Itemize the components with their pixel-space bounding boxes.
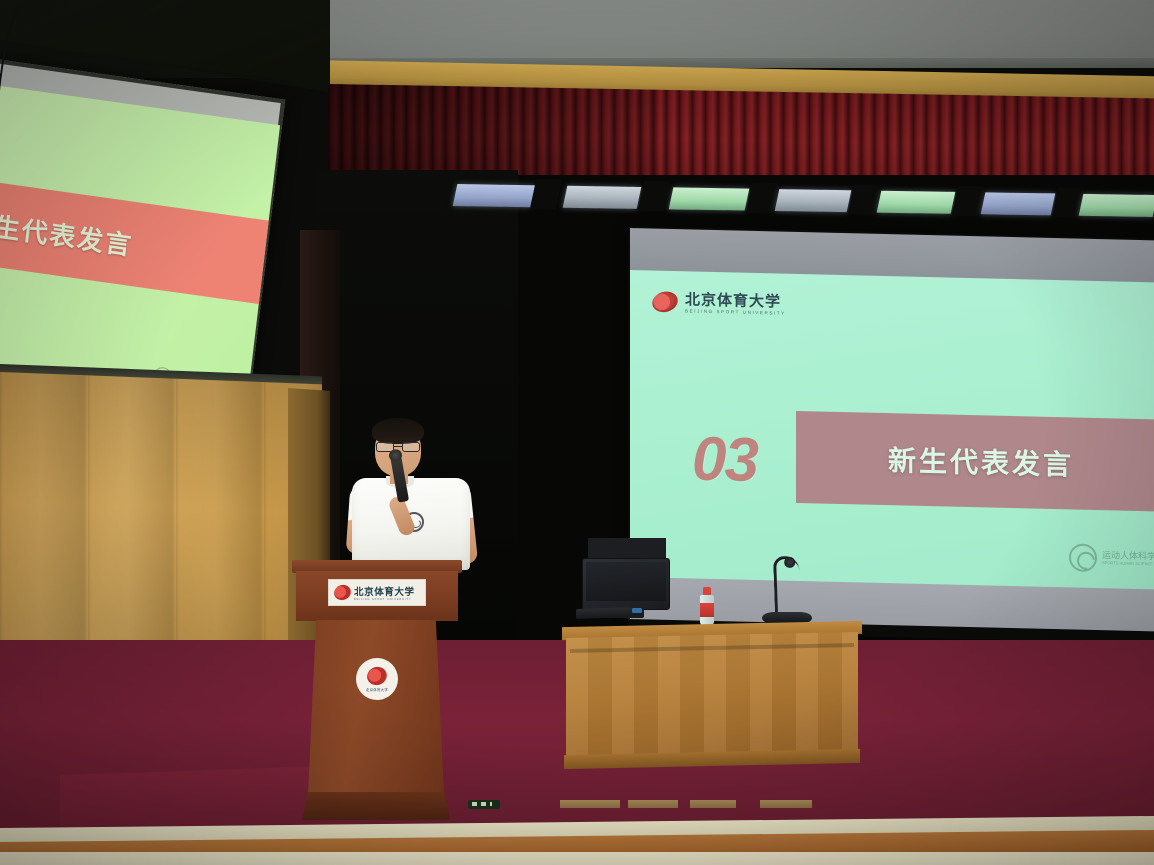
stage-light-icon [877,191,956,214]
microphone-head-icon [784,557,795,568]
floor-cable-cover [560,800,620,808]
main-screen-surface: 北京体育大学 BEIJING SPORT UNIVERSITY 03 新生代表发… [630,270,1154,592]
auditorium-scene: 新生代表发言 运动人体科学学院 SPORTS HUMAN SCIENCE 北京体… [0,0,1154,865]
podium-base [302,792,450,820]
speaker-podium: 北京体育大学 BEIJING SPORT UNIVERSITY 北京体育大学 [292,560,462,830]
college-seal-icon [1069,543,1097,572]
stage-edge-lower-trim [0,852,1154,865]
presenter-desk [562,624,862,774]
water-bottle [700,587,714,625]
student-speaker [342,418,482,583]
bottle-label [700,603,714,617]
floor-cable-cover [760,800,812,808]
university-swirl-icon [365,664,390,688]
university-swirl-icon [332,583,353,603]
power-strip [468,800,500,809]
floor-cable-cover [690,800,736,808]
left-screen-title-band: 新生代表发言 [0,178,280,311]
university-name-en: BEIJING SPORT UNIVERSITY [685,309,786,316]
podium-name-plaque: 北京体育大学 BEIJING SPORT UNIVERSITY [328,579,426,606]
university-logo-text: 北京体育大学 BEIJING SPORT UNIVERSITY [685,291,786,316]
stage-light-hood [952,186,984,216]
main-screen-college-logo: 运动人体科学学院 SPORTS HUMAN SCIENCE [1069,543,1154,573]
microphone-stem [773,556,801,615]
glasses-bridge [394,446,402,447]
main-projection-screen: 北京体育大学 BEIJING SPORT UNIVERSITY 03 新生代表发… [628,226,1154,644]
monitor-screen [586,562,666,601]
plaque-name-cn: 北京体育大学 [354,588,415,598]
ceiling-panel [310,0,1154,62]
main-screen-college-name: 运动人体科学学院 SPORTS HUMAN SCIENCE [1102,551,1154,567]
plaque-name-en: BEIJING SPORT UNIVERSITY [354,599,415,602]
left-screen-surface: 新生代表发言 运动人体科学学院 SPORTS HUMAN SCIENCE [0,84,280,405]
stage-light-hood [530,179,562,209]
main-screen-title-band: 新生代表发言 [796,411,1154,512]
stage-light-icon [453,184,536,207]
stage-light-icon [775,189,852,212]
university-swirl-icon [650,289,681,316]
university-logo: 北京体育大学 BEIJING SPORT UNIVERSITY [652,291,786,317]
podium-round-emblem: 北京体育大学 [356,658,398,700]
speaker-hair [372,418,424,444]
stage-light-icon [981,192,1056,215]
left-screen-title-text: 新生代表发言 [0,202,135,262]
keyboard-indicator-icon [632,608,642,613]
stage-light-icon [669,187,750,210]
floor-cable-cover [628,800,678,808]
main-screen-title-text: 新生代表发言 [888,439,1074,483]
stage-light-icon [563,186,642,209]
stage-light-hood [746,183,778,213]
podium-front-panel: 北京体育大学 [308,620,444,795]
stage-light-hood [848,184,880,214]
computer-monitor [582,558,670,610]
glasses-right-lens [402,442,420,452]
gooseneck-microphone [762,556,812,624]
stage-light-icon [1079,194,1154,217]
section-number: 03 [692,424,757,497]
plaque-text-group: 北京体育大学 BEIJING SPORT UNIVERSITY [354,583,415,602]
college-name-en: SPORTS HUMAN SCIENCE [1102,561,1154,567]
podium-emblem-text: 北京体育大学 [366,687,388,692]
podium-head-panel: 北京体育大学 BEIJING SPORT UNIVERSITY [296,571,458,621]
stage-light-hood [638,181,670,211]
keyboard [576,607,632,619]
